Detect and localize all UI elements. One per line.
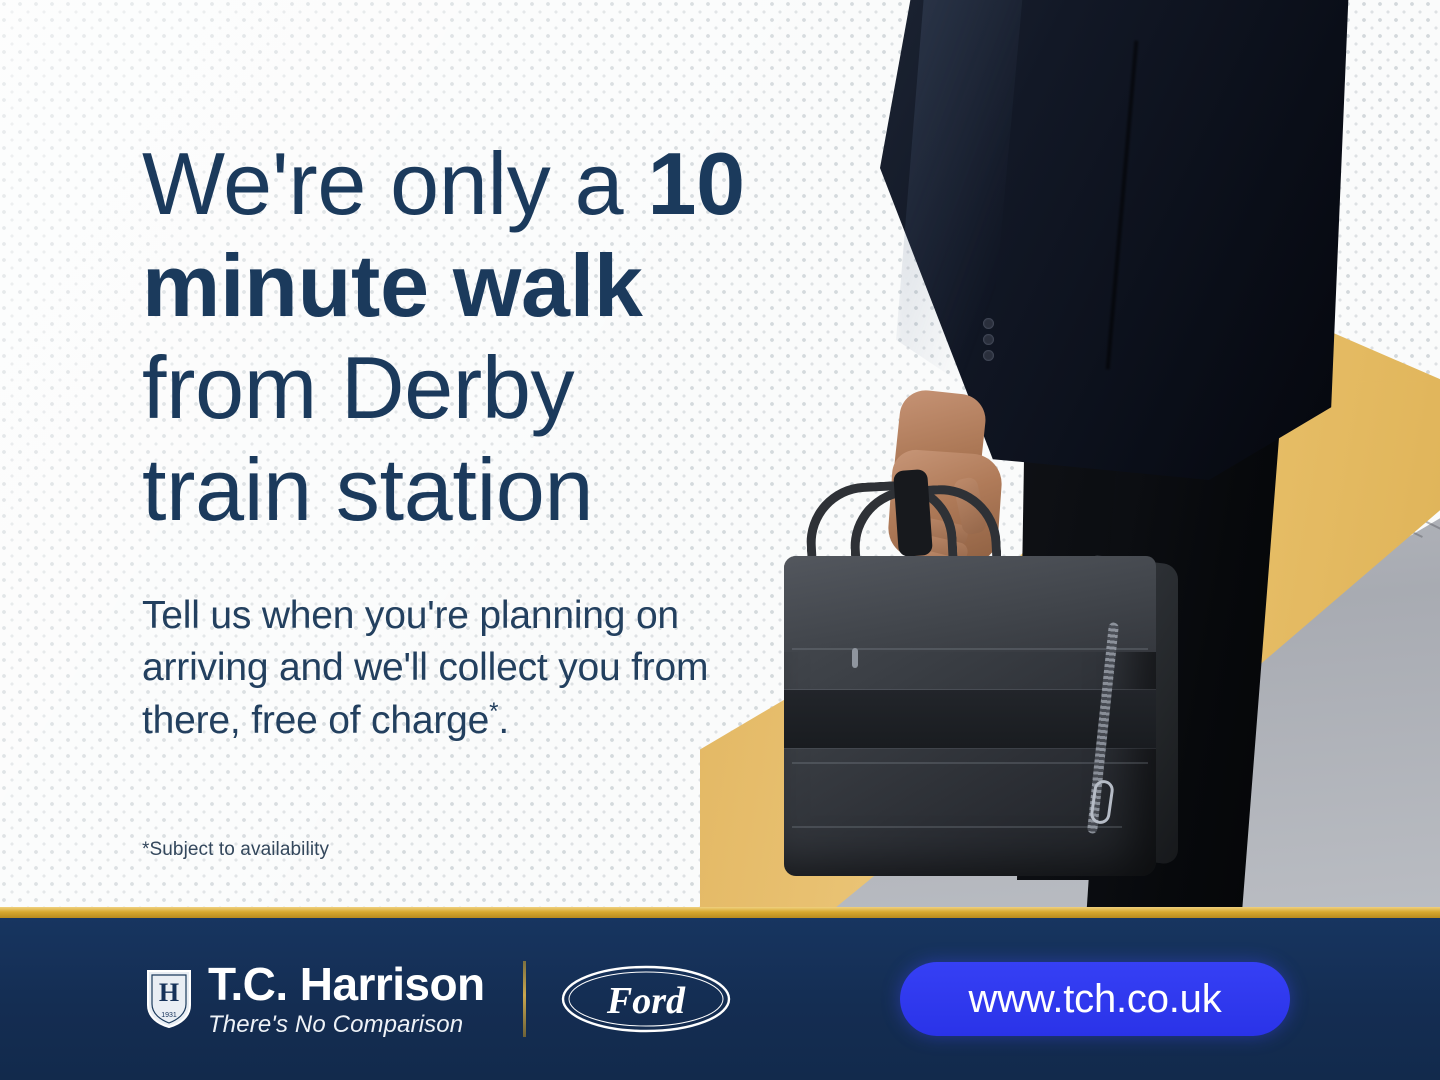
brand-tagline: There's No Comparison xyxy=(208,1013,485,1037)
brand-name: T.C. Harrison xyxy=(208,961,485,1007)
disclaimer: *Subject to availability xyxy=(142,839,902,861)
website-url-button[interactable]: www.tch.co.uk xyxy=(900,962,1290,1036)
headline-line-1: We're only a 10 xyxy=(142,0,902,228)
ford-logo-icon[interactable]: Ford xyxy=(560,964,732,1034)
copy-block: We're only a 10 minute walk from Derby t… xyxy=(142,0,902,861)
headline-line-3: from Derby xyxy=(142,330,902,432)
subcopy-text: Tell us when you're planning on arriving… xyxy=(142,594,708,742)
brand-text: T.C. Harrison There's No Comparison xyxy=(208,961,485,1037)
headline-line-1-bold: 10 xyxy=(647,134,744,233)
headline: We're only a 10 minute walk from Derby t… xyxy=(142,0,902,534)
advert-canvas: We're only a 10 minute walk from Derby t… xyxy=(0,0,1440,1080)
harrison-crest-icon: H 1931 xyxy=(146,969,192,1029)
svg-text:H: H xyxy=(159,978,179,1007)
brand-divider xyxy=(523,961,526,1037)
website-url-label: www.tch.co.uk xyxy=(968,977,1221,1022)
headline-line-4: train station xyxy=(142,432,902,534)
jacket-cuff-buttons xyxy=(983,318,999,372)
svg-text:1931: 1931 xyxy=(161,1012,177,1019)
brand-lockup[interactable]: H 1931 T.C. Harrison There's No Comparis… xyxy=(146,961,732,1037)
subcopy-period: . xyxy=(498,699,509,742)
footer-bar: H 1931 T.C. Harrison There's No Comparis… xyxy=(0,918,1440,1080)
headline-line-2: minute walk xyxy=(142,228,902,330)
headline-line-1-regular: We're only a xyxy=(142,134,647,233)
subcopy-asterisk: * xyxy=(489,698,498,725)
gold-divider-rule xyxy=(0,907,1440,918)
subcopy: Tell us when you're planning on arriving… xyxy=(142,590,782,747)
svg-text:Ford: Ford xyxy=(605,980,685,1022)
